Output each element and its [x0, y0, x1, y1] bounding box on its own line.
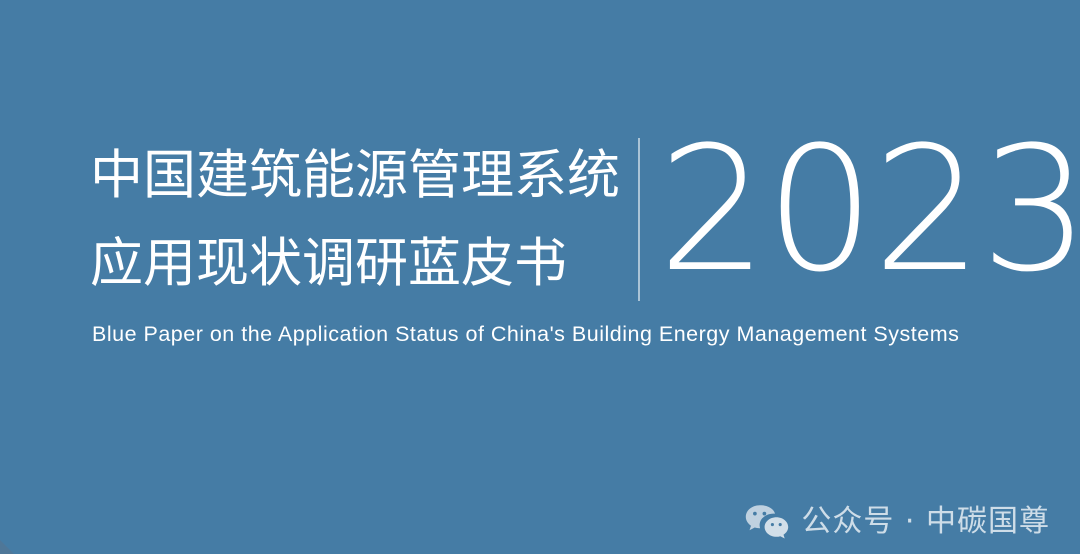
year-label: 2023	[658, 122, 1080, 298]
english-subtitle: Blue Paper on the Application Status of …	[92, 322, 959, 347]
title-block: 中国建筑能源管理系统 应用现状调研蓝皮书 2023	[90, 132, 1080, 308]
wechat-icon	[745, 504, 789, 540]
cover-page: 中国建筑能源管理系统 应用现状调研蓝皮书 2023 Blue Paper on …	[0, 0, 1080, 554]
corner-artifact	[0, 540, 14, 554]
chinese-title-line-1: 中国建筑能源管理系统	[90, 132, 620, 220]
title-divider	[638, 138, 640, 301]
wechat-account-label: 公众号 · 中碳国尊	[801, 505, 1050, 539]
chinese-title: 中国建筑能源管理系统 应用现状调研蓝皮书	[90, 132, 620, 308]
wechat-watermark: 公众号 · 中碳国尊	[745, 504, 1050, 540]
chinese-title-line-2: 应用现状调研蓝皮书	[90, 220, 620, 308]
